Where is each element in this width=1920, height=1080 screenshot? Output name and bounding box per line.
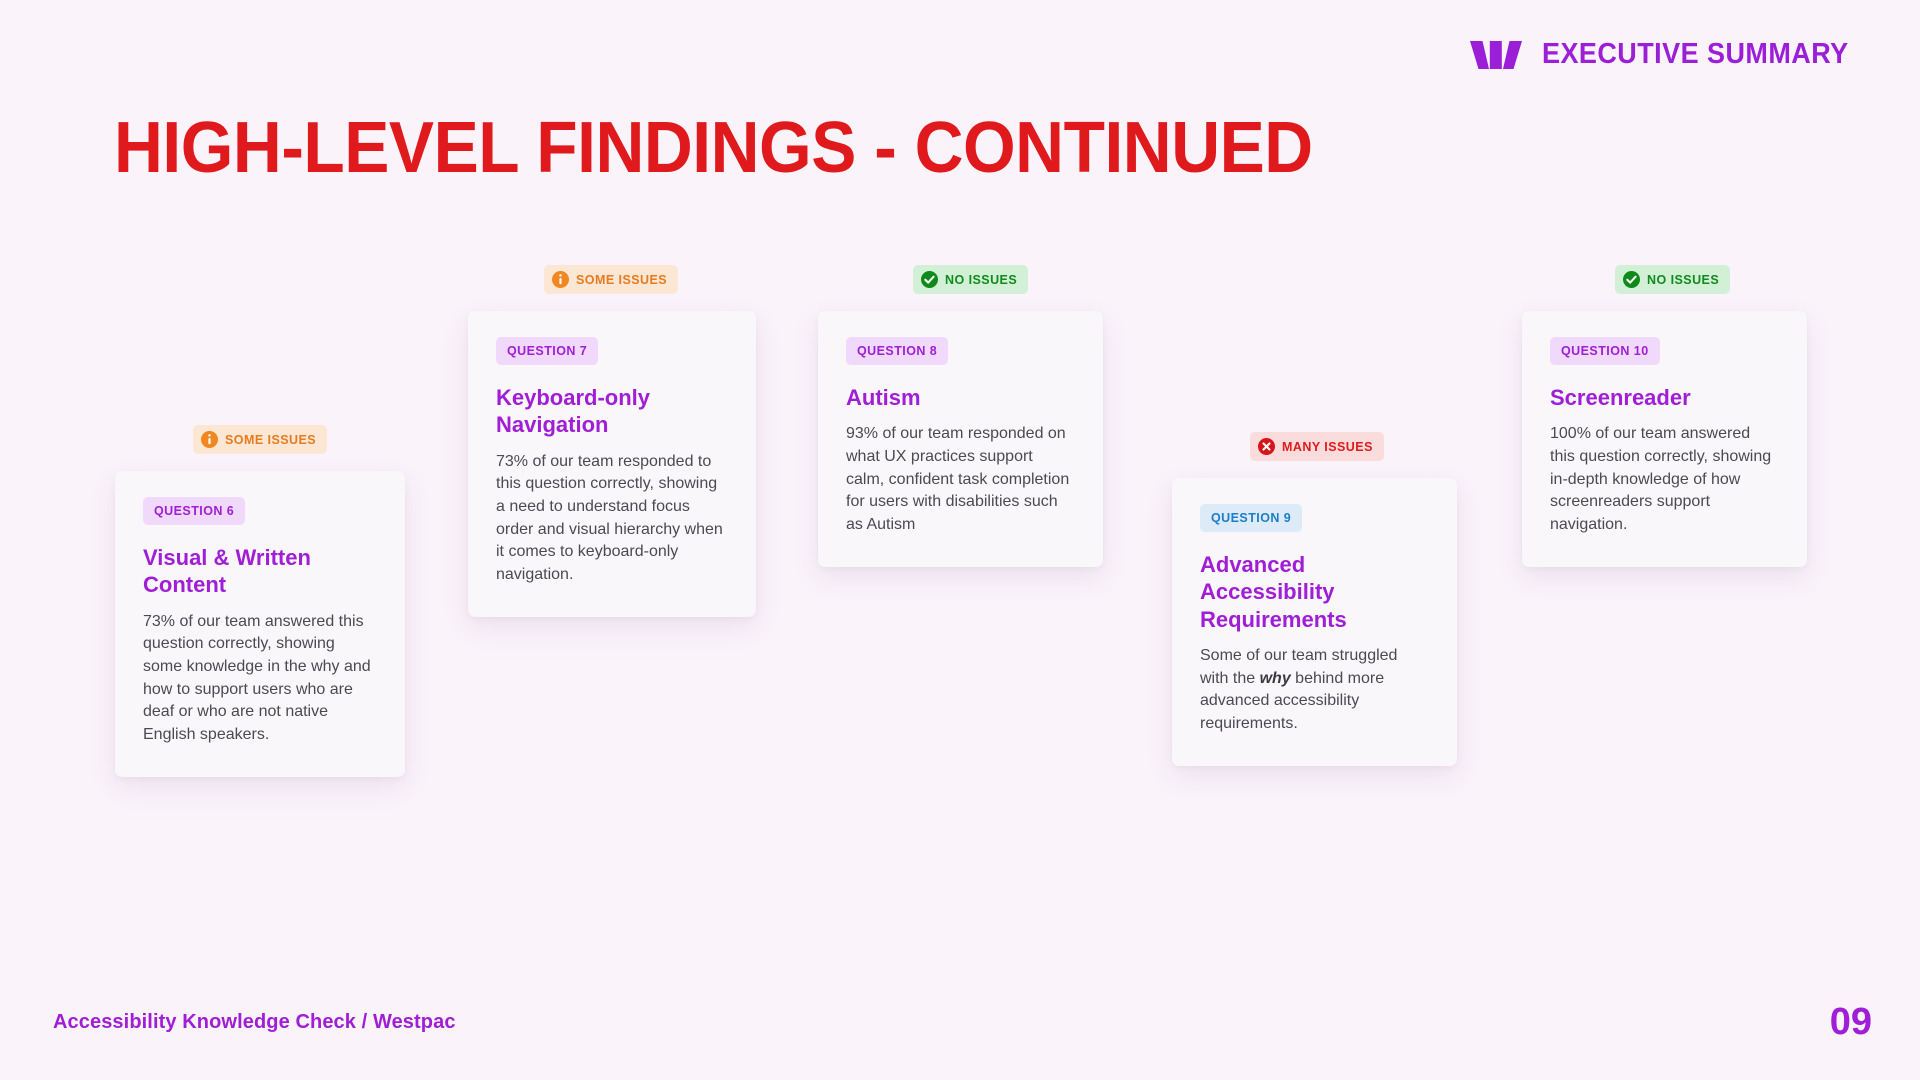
check-circle-icon bbox=[921, 271, 938, 288]
card-title: Screenreader bbox=[1550, 384, 1779, 411]
card-body: 100% of our team answered this question … bbox=[1550, 423, 1779, 537]
slide-header: EXECUTIVE SUMMARY bbox=[1470, 38, 1872, 71]
finding-card[interactable]: QUESTION 9 Advanced Accessibility Requir… bbox=[1172, 478, 1457, 766]
question-badge: QUESTION 10 bbox=[1550, 337, 1660, 365]
question-badge: QUESTION 7 bbox=[496, 337, 598, 365]
finding-column-4: MANY ISSUES QUESTION 9 Advanced Accessib… bbox=[1172, 432, 1457, 766]
card-body-pre: 100% of our team answered this question … bbox=[1550, 425, 1771, 533]
header-title: EXECUTIVE SUMMARY bbox=[1542, 38, 1849, 71]
card-body-emphasis: why bbox=[1260, 670, 1291, 687]
slide-root: EXECUTIVE SUMMARY HIGH-LEVEL FINDINGS - … bbox=[0, 0, 1920, 1080]
card-body: 73% of our team answered this question c… bbox=[143, 611, 377, 747]
westpac-w-logo-icon bbox=[1470, 41, 1522, 69]
status-badge: SOME ISSUES bbox=[193, 425, 327, 454]
status-badge: NO ISSUES bbox=[913, 265, 1028, 294]
card-body: 73% of our team responded to this questi… bbox=[496, 451, 728, 587]
finding-card[interactable]: QUESTION 6 Visual & Written Content 73% … bbox=[115, 471, 405, 777]
card-body-pre: 73% of our team responded to this questi… bbox=[496, 453, 723, 584]
status-badge-label: NO ISSUES bbox=[945, 273, 1017, 287]
footer-label: Accessibility Knowledge Check / Westpac bbox=[53, 1011, 456, 1034]
info-circle-icon bbox=[552, 271, 569, 288]
finding-column-3: NO ISSUES QUESTION 8 Autism 93% of our t… bbox=[818, 265, 1103, 567]
finding-card[interactable]: QUESTION 10 Screenreader 100% of our tea… bbox=[1522, 311, 1807, 567]
status-badge: SOME ISSUES bbox=[544, 265, 678, 294]
card-title: Autism bbox=[846, 384, 1075, 411]
finding-column-5: NO ISSUES QUESTION 10 Screenreader 100% … bbox=[1522, 265, 1807, 567]
card-title: Keyboard-only Navigation bbox=[496, 384, 728, 439]
card-body: Some of our team struggled with the why … bbox=[1200, 645, 1429, 736]
finding-column-2: SOME ISSUES QUESTION 7 Keyboard-only Nav… bbox=[468, 265, 756, 617]
finding-card[interactable]: QUESTION 8 Autism 93% of our team respon… bbox=[818, 311, 1103, 567]
info-circle-icon bbox=[201, 431, 218, 448]
status-badge-label: SOME ISSUES bbox=[225, 433, 316, 447]
card-body-pre: 93% of our team responded on what UX pra… bbox=[846, 425, 1069, 533]
page-number: 09 bbox=[1830, 1001, 1872, 1044]
check-circle-icon bbox=[1623, 271, 1640, 288]
question-badge: QUESTION 6 bbox=[143, 497, 245, 525]
status-badge: NO ISSUES bbox=[1615, 265, 1730, 294]
page-title: HIGH-LEVEL FINDINGS - CONTINUED bbox=[114, 112, 1313, 184]
cross-circle-icon bbox=[1258, 438, 1275, 455]
status-badge: MANY ISSUES bbox=[1250, 432, 1384, 461]
status-badge-label: NO ISSUES bbox=[1647, 273, 1719, 287]
finding-column-1: SOME ISSUES QUESTION 6 Visual & Written … bbox=[115, 425, 405, 777]
card-title: Visual & Written Content bbox=[143, 544, 377, 599]
card-title: Advanced Accessibility Requirements bbox=[1200, 551, 1429, 633]
status-badge-label: SOME ISSUES bbox=[576, 273, 667, 287]
card-body-pre: 73% of our team answered this question c… bbox=[143, 613, 371, 744]
status-badge-label: MANY ISSUES bbox=[1282, 440, 1373, 454]
question-badge: QUESTION 8 bbox=[846, 337, 948, 365]
card-body: 93% of our team responded on what UX pra… bbox=[846, 423, 1075, 537]
question-badge: QUESTION 9 bbox=[1200, 504, 1302, 532]
finding-card[interactable]: QUESTION 7 Keyboard-only Navigation 73% … bbox=[468, 311, 756, 617]
